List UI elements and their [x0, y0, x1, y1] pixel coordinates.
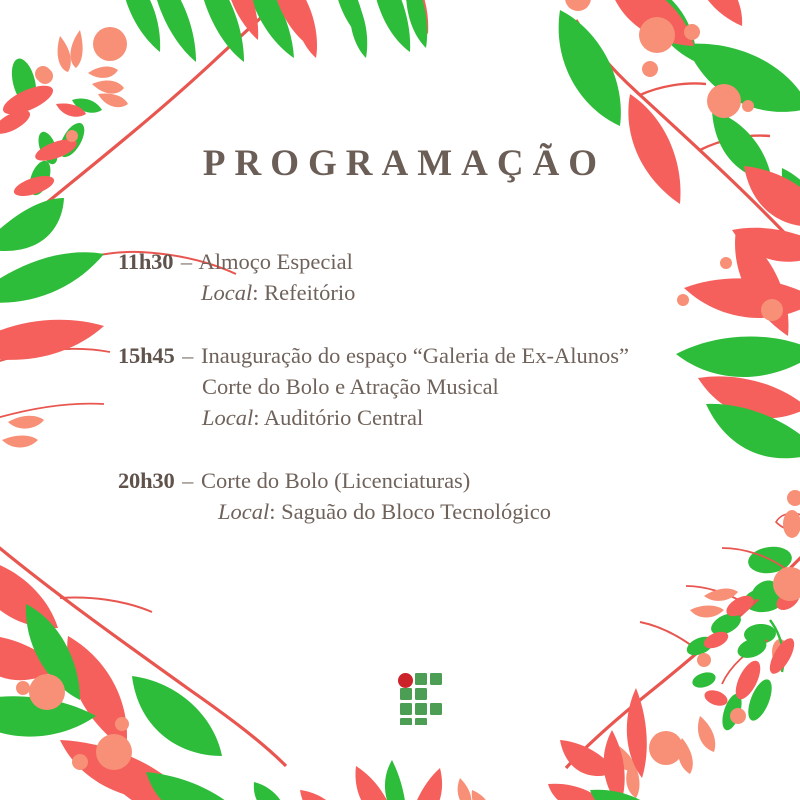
schedule-location: Local: Saguão do Bloco Tecnológico [118, 496, 758, 527]
logo-square [400, 718, 412, 725]
schedule-location-label: Local [201, 280, 252, 305]
logo-square [415, 673, 427, 685]
schedule-dash: – [180, 468, 195, 493]
instituto-federal-logo [398, 673, 444, 725]
schedule-location: Local: Auditório Central [118, 402, 758, 433]
logo-square [400, 703, 412, 715]
schedule-item: 11h30 – Almoço Especial Local: Refeitóri… [118, 246, 758, 308]
schedule-headline: 11h30 – Almoço Especial [118, 246, 758, 277]
schedule-time: 15h45 [118, 343, 175, 368]
schedule-list: 11h30 – Almoço Especial Local: Refeitóri… [118, 246, 758, 527]
logo-square [400, 688, 412, 700]
schedule-dash: – [179, 249, 194, 274]
schedule-time: 11h30 [118, 249, 173, 274]
schedule-title: Corte do Bolo (Licenciaturas) [201, 468, 470, 493]
programacao-poster: PROGRAMAÇÃO 11h30 – Almoço Especial Loca… [0, 0, 800, 800]
page-title: PROGRAMAÇÃO [0, 142, 800, 185]
logo-square [430, 673, 442, 685]
schedule-item: 20h30 – Corte do Bolo (Licenciaturas) Lo… [118, 465, 758, 527]
schedule-location: Local: Refeitório [118, 277, 758, 308]
logo-square [415, 688, 427, 700]
schedule-location-value: : Auditório Central [253, 405, 423, 430]
schedule-extra-line: Corte do Bolo e Atração Musical [118, 371, 758, 402]
schedule-title: Inauguração do espaço “Galeria de Ex-Alu… [201, 343, 629, 368]
logo-square [415, 718, 427, 725]
logo-red-dot-icon [398, 673, 413, 688]
schedule-time: 20h30 [118, 468, 175, 493]
schedule-headline: 20h30 – Corte do Bolo (Licenciaturas) [118, 465, 758, 496]
schedule-headline: 15h45 – Inauguração do espaço “Galeria d… [118, 340, 758, 371]
schedule-location-label: Local [202, 405, 253, 430]
schedule-title: Almoço Especial [199, 249, 353, 274]
schedule-location-label: Local [218, 499, 269, 524]
schedule-dash: – [180, 343, 195, 368]
schedule-item: 15h45 – Inauguração do espaço “Galeria d… [118, 340, 758, 433]
logo-square [415, 703, 427, 715]
logo-square [430, 703, 442, 715]
schedule-location-value: : Refeitório [252, 280, 355, 305]
logo-grid [398, 673, 442, 725]
schedule-location-value: : Saguão do Bloco Tecnológico [269, 499, 551, 524]
